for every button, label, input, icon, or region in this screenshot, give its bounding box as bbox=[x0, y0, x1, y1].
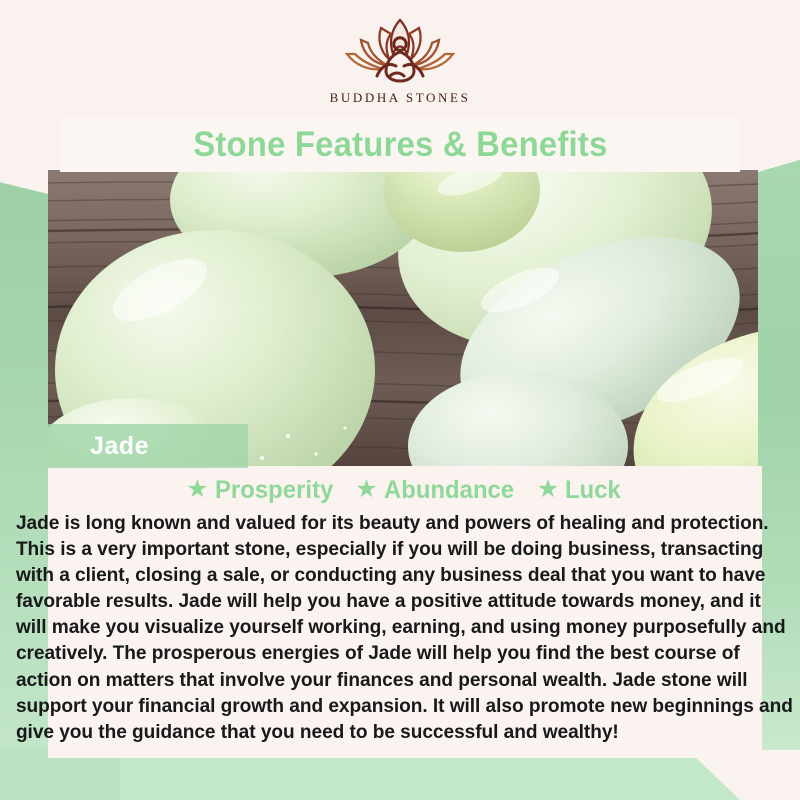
benefit-label: Abundance bbox=[384, 476, 514, 505]
star-icon: ★ bbox=[186, 477, 208, 502]
benefit-label: Luck bbox=[565, 476, 621, 505]
lotus-meditation-icon bbox=[341, 14, 459, 88]
stone-name-banner: Jade bbox=[48, 424, 248, 468]
benefit-item: ★ Abundance bbox=[355, 476, 520, 505]
page-title-band: Stone Features & Benefits bbox=[60, 118, 740, 172]
brand-header: BUDDHA STONES bbox=[0, 0, 800, 120]
brand-name: BUDDHA STONES bbox=[330, 90, 471, 106]
stone-description: Jade is long known and valued for its be… bbox=[12, 510, 798, 745]
star-icon: ★ bbox=[355, 477, 377, 502]
jade-stones-illustration bbox=[0, 170, 800, 466]
bottom-green-border bbox=[0, 752, 800, 800]
benefits-row: ★ Prosperity ★ Abundance ★ Luck bbox=[48, 470, 762, 510]
content-panel: ★ Prosperity ★ Abundance ★ Luck Jade is … bbox=[48, 466, 762, 758]
stone-name: Jade bbox=[90, 432, 149, 461]
page-title: Stone Features & Benefits bbox=[193, 125, 607, 165]
brand-logo: BUDDHA STONES bbox=[330, 14, 471, 106]
benefit-label: Prosperity bbox=[215, 476, 333, 505]
benefit-item: ★ Luck bbox=[537, 476, 624, 505]
benefit-item: ★ Prosperity bbox=[186, 476, 339, 505]
star-icon: ★ bbox=[537, 477, 559, 502]
jade-stones-photo bbox=[0, 170, 800, 466]
stone-info-poster: BUDDHA STONES Stone Features & Benefits … bbox=[0, 0, 800, 800]
